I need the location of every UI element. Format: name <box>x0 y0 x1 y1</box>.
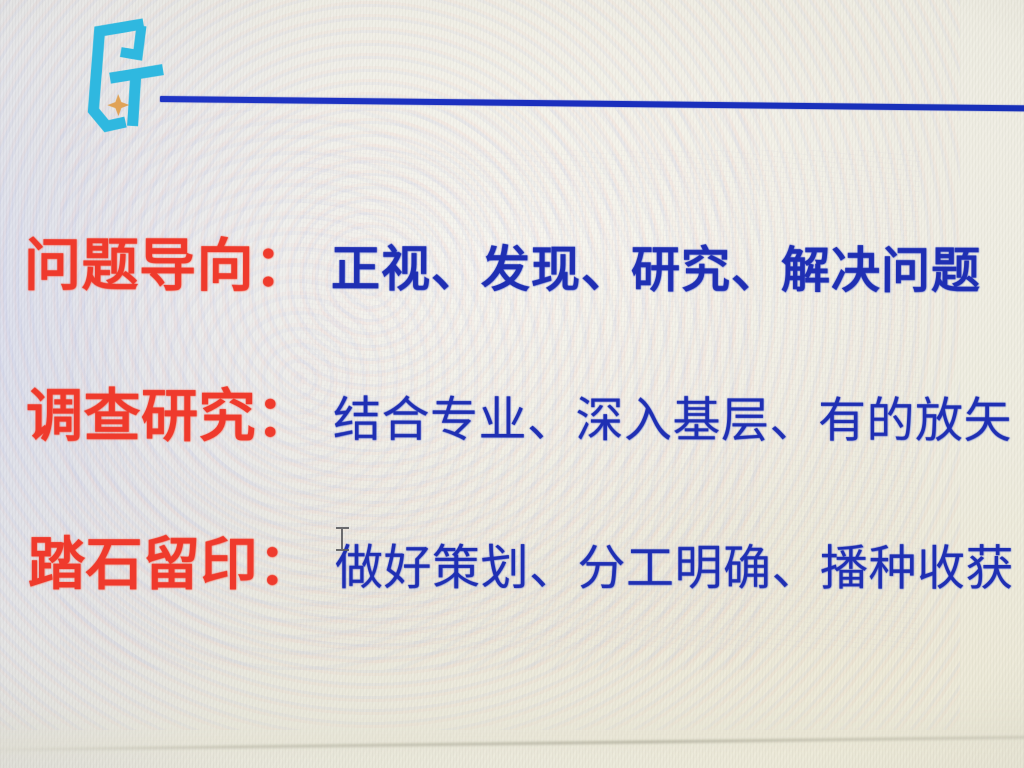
row-3-colon: ： <box>258 534 315 597</box>
slide-content: 问题导向： 正视、发现、研究、解决问题 调查研究： 结合专业、深入基层、有的放矢… <box>0 0 1024 768</box>
row-1-label: 问题导向： <box>24 234 311 299</box>
header-divider-rule <box>160 96 1024 112</box>
row-1-colon: ： <box>254 235 311 298</box>
row-3-label: 踏石留印： <box>28 533 315 597</box>
row-2-colon: ： <box>256 386 313 449</box>
row-1-content: 正视、发现、研究、解决问题 <box>331 242 981 299</box>
row-2-content: 结合专业、深入基层、有的放矢 <box>333 394 1012 449</box>
slide-row-3: 踏石留印： 做好策划、分工明确、播种收获 <box>28 533 1014 598</box>
row-2-label: 调查研究： <box>26 385 313 449</box>
projected-slide-photo: 问题导向： 正视、发现、研究、解决问题 调查研究： 结合专业、深入基层、有的放矢… <box>0 0 1024 768</box>
sparkle-star-icon <box>107 94 129 116</box>
slide-row-2: 调查研究： 结合专业、深入基层、有的放矢 <box>26 385 1012 451</box>
company-logo-mark <box>77 14 174 133</box>
slide-row-1: 问题导向： 正视、发现、研究、解决问题 <box>24 234 981 301</box>
row-3-content: 做好策划、分工明确、播种收获 <box>335 542 1014 596</box>
